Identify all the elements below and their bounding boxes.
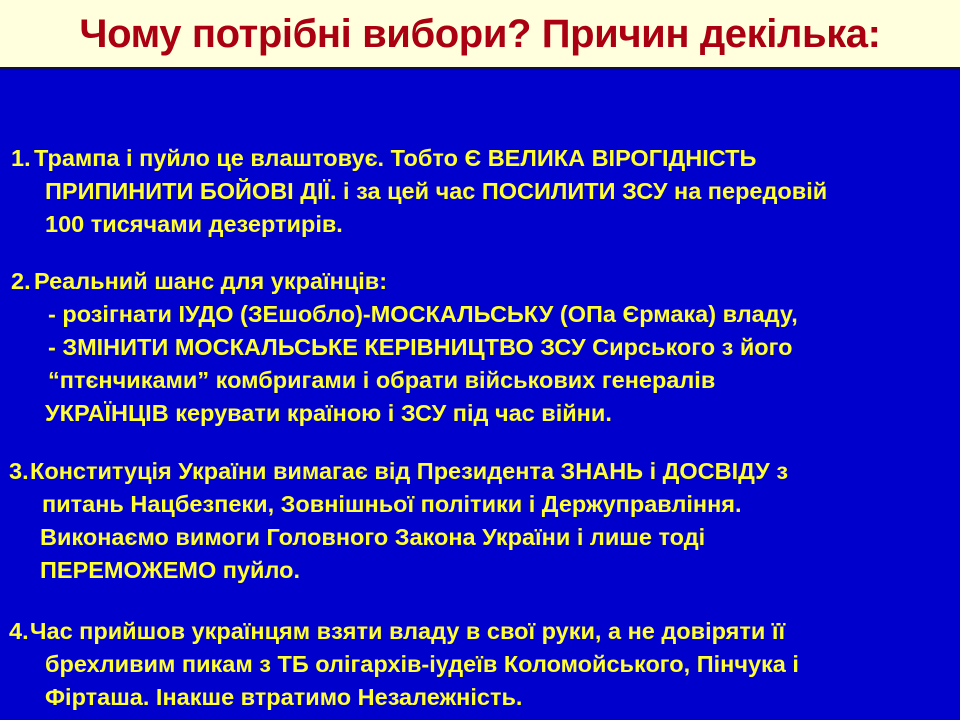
list-item-2-line-2: - розігнати ІУДО (ЗЕшобло)-МОСКАЛЬСЬКУ (… bbox=[0, 298, 960, 331]
list-item-4-line-2: брехливим пикам з ТБ олігархів-іудеїв Ко… bbox=[0, 648, 960, 681]
list-item-3: 3.Конституція України вимагає від Презид… bbox=[0, 455, 960, 587]
list-item-1-line-2: ПРИПИНИТИ БОЙОВІ ДІЇ. і за цей час ПОСИЛ… bbox=[0, 175, 960, 208]
list-item-3-line-4: ПЕРЕМОЖЕМО пуйло. bbox=[0, 554, 960, 587]
list-item-2-line-1: 2.Реальний шанс для українців: bbox=[0, 265, 960, 298]
list-item-3-line-2: питань Нацбезпеки, Зовнішньої політики і… bbox=[0, 488, 960, 521]
list-item-3-line-1: 3.Конституція України вимагає від Презид… bbox=[0, 455, 960, 488]
list-item-2-line-3: - ЗМІНИТИ МОСКАЛЬСЬКЕ КЕРІВНИЦТВО ЗСУ Си… bbox=[0, 331, 960, 364]
list-item-3-number: 3. bbox=[0, 455, 30, 488]
list-item-2-line-4: “птєнчиками” комбригами і обрати військо… bbox=[0, 364, 960, 397]
list-item-1-line-3: 100 тисячами дезертирів. bbox=[0, 208, 960, 241]
slide-body: 1.Трампа і пуйло це влаштовує. Тобто Є В… bbox=[0, 70, 960, 720]
list-item-2-number: 2. bbox=[0, 265, 34, 298]
page-title: Чому потрібні вибори? Причин декілька: bbox=[79, 14, 880, 54]
list-item-1-line-1: 1.Трампа і пуйло це влаштовує. Тобто Є В… bbox=[0, 142, 960, 175]
list-item-4-number: 4. bbox=[0, 615, 30, 648]
list-item-1: 1.Трампа і пуйло це влаштовує. Тобто Є В… bbox=[0, 142, 960, 241]
list-item-4-line-1: 4.Час прийшов українцям взяти владу в св… bbox=[0, 615, 960, 648]
list-item-4: 4.Час прийшов українцям взяти владу в св… bbox=[0, 615, 960, 714]
list-item-2-text-1: Реальний шанс для українців: bbox=[34, 268, 387, 294]
list-item-3-text-1: Конституція України вимагає від Президен… bbox=[30, 458, 788, 484]
list-item-1-text-1: Трампа і пуйло це влаштовує. Тобто Є ВЕЛ… bbox=[34, 145, 756, 171]
slide-root: Чому потрібні вибори? Причин декілька: 1… bbox=[0, 0, 960, 720]
list-item-3-line-3: Виконаємо вимоги Головного Закона Україн… bbox=[0, 521, 960, 554]
list-item-4-line-3: Фірташа. Інакше втратимо Незалежність. bbox=[0, 681, 960, 714]
list-item-2-line-5: УКРАЇНЦІВ керувати країною і ЗСУ під час… bbox=[0, 397, 960, 430]
list-item-2: 2.Реальний шанс для українців: - розігна… bbox=[0, 265, 960, 430]
slide-title-band: Чому потрібні вибори? Причин декілька: bbox=[0, 0, 960, 67]
list-item-1-number: 1. bbox=[0, 142, 34, 175]
list-item-4-text-1: Час прийшов українцям взяти владу в свої… bbox=[30, 618, 785, 644]
